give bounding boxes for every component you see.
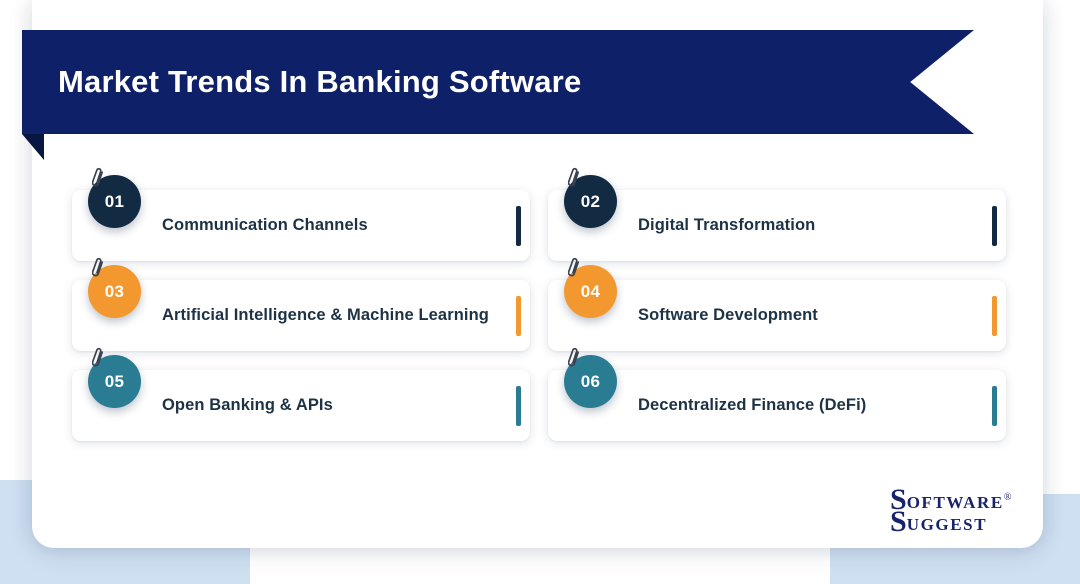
trend-accent-bar bbox=[992, 296, 997, 336]
trends-grid: 01Communication Channels02Digital Transf… bbox=[72, 190, 1006, 441]
trend-label: Artificial Intelligence & Machine Learni… bbox=[162, 305, 489, 327]
trend-label: Software Development bbox=[638, 305, 818, 327]
trend-accent-bar bbox=[516, 206, 521, 246]
logo-line-2: S UGGEST bbox=[890, 509, 987, 535]
trend-number-badge: 06 bbox=[564, 355, 617, 408]
trend-number-badge: 03 bbox=[88, 265, 141, 318]
trend-label: Communication Channels bbox=[162, 215, 368, 237]
infographic-canvas: Market Trends In Banking Software 01Comm… bbox=[0, 0, 1080, 584]
trend-number-badge: 04 bbox=[564, 265, 617, 318]
trend-label: Open Banking & APIs bbox=[162, 395, 333, 417]
trend-accent-bar bbox=[992, 206, 997, 246]
header-ribbon: Market Trends In Banking Software bbox=[22, 30, 974, 134]
trend-number-badge: 01 bbox=[88, 175, 141, 228]
logo-line2-capital: S bbox=[890, 509, 907, 535]
softwaresuggest-logo: S OFTWARE ® S UGGEST bbox=[890, 487, 1030, 535]
trend-accent-bar bbox=[516, 296, 521, 336]
page-title: Market Trends In Banking Software bbox=[58, 30, 581, 134]
trend-card[interactable]: 04Software Development bbox=[548, 280, 1006, 351]
trend-card[interactable]: 02Digital Transformation bbox=[548, 190, 1006, 261]
trend-card[interactable]: 05Open Banking & APIs bbox=[72, 370, 530, 441]
trend-number-badge: 02 bbox=[564, 175, 617, 228]
logo-line2-text: UGGEST bbox=[907, 516, 987, 535]
registered-trademark-icon: ® bbox=[1004, 493, 1012, 513]
trend-accent-bar bbox=[516, 386, 521, 426]
trend-label: Digital Transformation bbox=[638, 215, 815, 237]
trend-number-badge: 05 bbox=[88, 355, 141, 408]
trend-label: Decentralized Finance (DeFi) bbox=[638, 395, 866, 417]
trend-card[interactable]: 03Artificial Intelligence & Machine Lear… bbox=[72, 280, 530, 351]
trend-card[interactable]: 06Decentralized Finance (DeFi) bbox=[548, 370, 1006, 441]
trend-card[interactable]: 01Communication Channels bbox=[72, 190, 530, 261]
trend-accent-bar bbox=[992, 386, 997, 426]
